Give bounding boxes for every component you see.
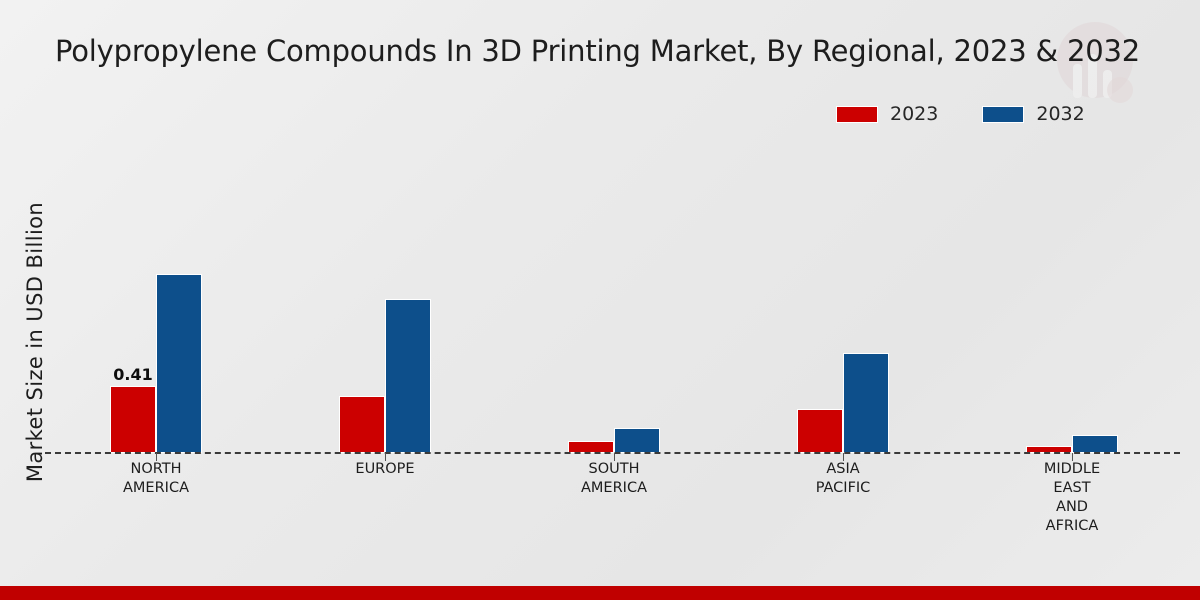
x-label-line: AMERICA [519,479,709,498]
bar-group-asia-pacific [797,150,889,453]
x-label-line: PACIFIC [748,479,938,498]
x-label-line: EUROPE [290,460,480,479]
legend-label-2023: 2023 [890,103,938,125]
legend-swatch-2023 [836,106,878,123]
bar-north-america-2023[interactable]: 0.41 [110,386,156,453]
x-label-south-america: SOUTH AMERICA [519,460,709,498]
bar-group-europe [339,150,431,453]
plot-area: 0.41 [45,150,1175,453]
bar-group-south-america [568,150,660,453]
bar-group-north-america: 0.41 [110,150,202,453]
bottom-accent-bar [0,586,1200,600]
bar-north-america-2032[interactable] [156,274,202,453]
legend-swatch-2032 [982,106,1024,123]
bar-europe-2032[interactable] [385,299,431,453]
y-axis-title: Market Size in USD Billion [23,162,47,522]
bar-europe-2023[interactable] [339,396,385,453]
bar-south-america-2032[interactable] [614,428,660,453]
chart-legend: 2023 2032 [836,103,1085,125]
x-label-line: MIDDLE [977,460,1167,479]
chart-title: Polypropylene Compounds In 3D Printing M… [55,34,1185,68]
legend-label-2032: 2032 [1036,103,1084,125]
x-label-line: ASIA [748,460,938,479]
bar-asia-pacific-2032[interactable] [843,353,889,453]
x-label-asia-pacific: ASIA PACIFIC [748,460,938,498]
x-axis-baseline [45,452,1180,454]
bar-value-north-america-2023: 0.41 [113,365,152,384]
bar-middle-east-and-africa-2032[interactable] [1072,435,1118,453]
x-label-line: NORTH [61,460,251,479]
x-label-line: EAST [977,479,1167,498]
legend-item-2023[interactable]: 2023 [836,103,938,125]
bar-group-middle-east-and-africa [1026,150,1118,453]
x-label-north-america: NORTH AMERICA [61,460,251,498]
chart-canvas: Polypropylene Compounds In 3D Printing M… [0,0,1200,600]
x-label-line: AND [977,498,1167,517]
x-label-middle-east-and-africa: MIDDLE EAST AND AFRICA [977,460,1167,536]
x-label-line: AFRICA [977,517,1167,536]
bar-asia-pacific-2023[interactable] [797,409,843,453]
x-label-line: SOUTH [519,460,709,479]
x-label-line: AMERICA [61,479,251,498]
x-label-europe: EUROPE [290,460,480,479]
legend-item-2032[interactable]: 2032 [982,103,1084,125]
